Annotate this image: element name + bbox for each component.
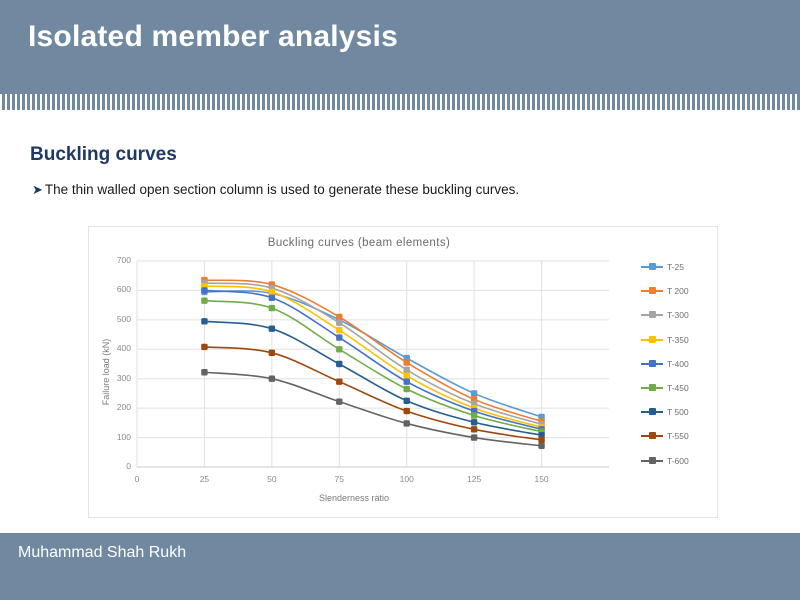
legend-marker-icon bbox=[641, 262, 663, 272]
chart-y-tick-label: 700 bbox=[97, 255, 131, 265]
legend-marker-icon bbox=[641, 407, 663, 417]
legend-label: T-550 bbox=[667, 431, 689, 441]
legend-item[interactable]: T-600 bbox=[641, 449, 719, 473]
chart-x-tick-label: 0 bbox=[122, 474, 152, 484]
legend-label: T-25 bbox=[667, 262, 684, 272]
chart-x-tick-label: 100 bbox=[392, 474, 422, 484]
chart-y-tick-label: 100 bbox=[97, 432, 131, 442]
legend-label: T 200 bbox=[667, 286, 689, 296]
legend-marker-icon bbox=[641, 383, 663, 393]
comb-divider bbox=[0, 88, 800, 110]
bullet-list-item: ➤ The thin walled open section column is… bbox=[32, 182, 519, 198]
legend-label: T-350 bbox=[667, 335, 689, 345]
legend-item[interactable]: T 200 bbox=[641, 279, 719, 303]
legend-item[interactable]: T-450 bbox=[641, 376, 719, 400]
legend-label: T-400 bbox=[667, 359, 689, 369]
chart-x-tick-label: 25 bbox=[189, 474, 219, 484]
chart-y-tick-label: 600 bbox=[97, 284, 131, 294]
slide-content: Buckling curves ➤ The thin walled open s… bbox=[0, 110, 800, 525]
slide-header: Isolated member analysis bbox=[0, 0, 800, 88]
chart-x-tick-label: 75 bbox=[324, 474, 354, 484]
legend-marker-icon bbox=[641, 335, 663, 345]
legend-label: T 500 bbox=[667, 407, 689, 417]
bullet-text: The thin walled open section column is u… bbox=[45, 182, 519, 197]
legend-marker-icon bbox=[641, 286, 663, 296]
legend-label: T-600 bbox=[667, 456, 689, 466]
legend-marker-icon bbox=[641, 431, 663, 441]
chart-x-tick-label: 150 bbox=[527, 474, 557, 484]
chart-y-tick-label: 300 bbox=[97, 373, 131, 383]
legend-item[interactable]: T-300 bbox=[641, 303, 719, 327]
footer-author: Muhammad Shah Rukh bbox=[18, 544, 186, 562]
legend-marker-icon bbox=[641, 310, 663, 320]
chart-y-tick-label: 200 bbox=[97, 402, 131, 412]
legend-item[interactable]: T-400 bbox=[641, 352, 719, 376]
chart-x-tick-label: 125 bbox=[459, 474, 489, 484]
legend-label: T-300 bbox=[667, 310, 689, 320]
legend-marker-icon bbox=[641, 456, 663, 466]
legend-label: T-450 bbox=[667, 383, 689, 393]
section-heading: Buckling curves bbox=[30, 144, 177, 166]
legend-item[interactable]: T 500 bbox=[641, 400, 719, 424]
page-title: Isolated member analysis bbox=[28, 20, 398, 54]
chart-y-tick-label: 500 bbox=[97, 314, 131, 324]
legend-marker-icon bbox=[641, 359, 663, 369]
chart-legend: T-25T 200T-300T-350T-400T-450T 500T-550T… bbox=[641, 255, 719, 473]
chart-x-tick-label: 50 bbox=[257, 474, 287, 484]
bullet-arrow-icon: ➤ bbox=[32, 182, 43, 198]
legend-item[interactable]: T-550 bbox=[641, 424, 719, 448]
chart-container: Buckling curves (beam elements) Failure … bbox=[88, 226, 718, 518]
comb-teeth bbox=[0, 94, 800, 110]
chart-y-tick-label: 0 bbox=[97, 461, 131, 471]
legend-item[interactable]: T-25 bbox=[641, 255, 719, 279]
slide-footer: Muhammad Shah Rukh bbox=[0, 533, 800, 600]
legend-item[interactable]: T-350 bbox=[641, 328, 719, 352]
chart-y-tick-label: 400 bbox=[97, 343, 131, 353]
